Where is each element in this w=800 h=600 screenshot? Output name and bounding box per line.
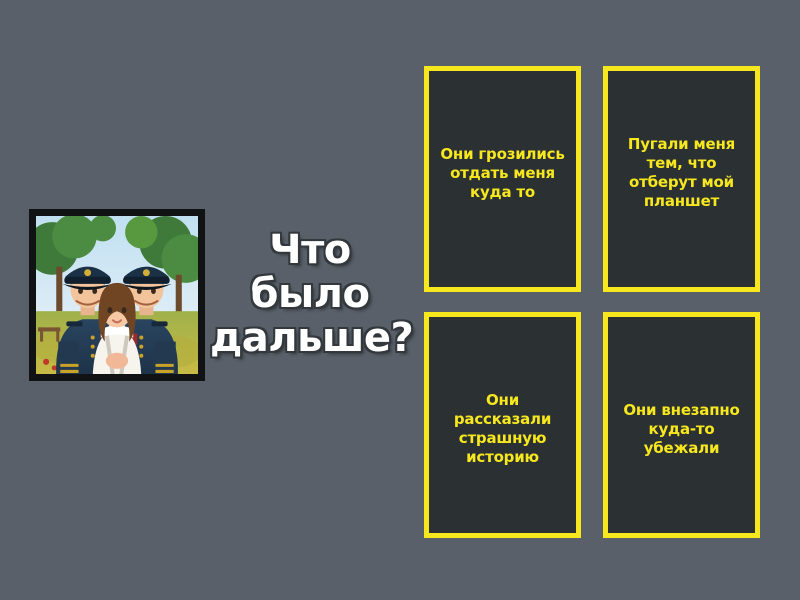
answer-card-2[interactable]: Пугали меня тем, что отберут мой планшет bbox=[603, 66, 760, 292]
answers-grid: Они грозились отдать меня куда то Пугали… bbox=[424, 66, 760, 530]
answer-card-1[interactable]: Они грозились отдать меня куда то bbox=[424, 66, 581, 292]
question-panel: Что было дальше? bbox=[0, 0, 412, 600]
answer-label-3: Они рассказали страшную историю bbox=[436, 391, 569, 467]
quiz-slide: Что было дальше? Они грозились отдать ме… bbox=[0, 0, 800, 600]
answer-label-2: Пугали меня тем, что отберут мой планшет bbox=[615, 135, 748, 211]
question-image bbox=[29, 209, 205, 381]
answer-label-1: Они грозились отдать меня куда то bbox=[436, 145, 569, 202]
answer-card-4[interactable]: Они внезапно куда-то убежали bbox=[603, 312, 760, 538]
answer-label-4: Они внезапно куда-то убежали bbox=[615, 401, 748, 458]
question-prompt: Что было дальше? bbox=[210, 228, 410, 360]
children-in-uniform-illustration bbox=[36, 216, 198, 374]
answer-card-3[interactable]: Они рассказали страшную историю bbox=[424, 312, 581, 538]
